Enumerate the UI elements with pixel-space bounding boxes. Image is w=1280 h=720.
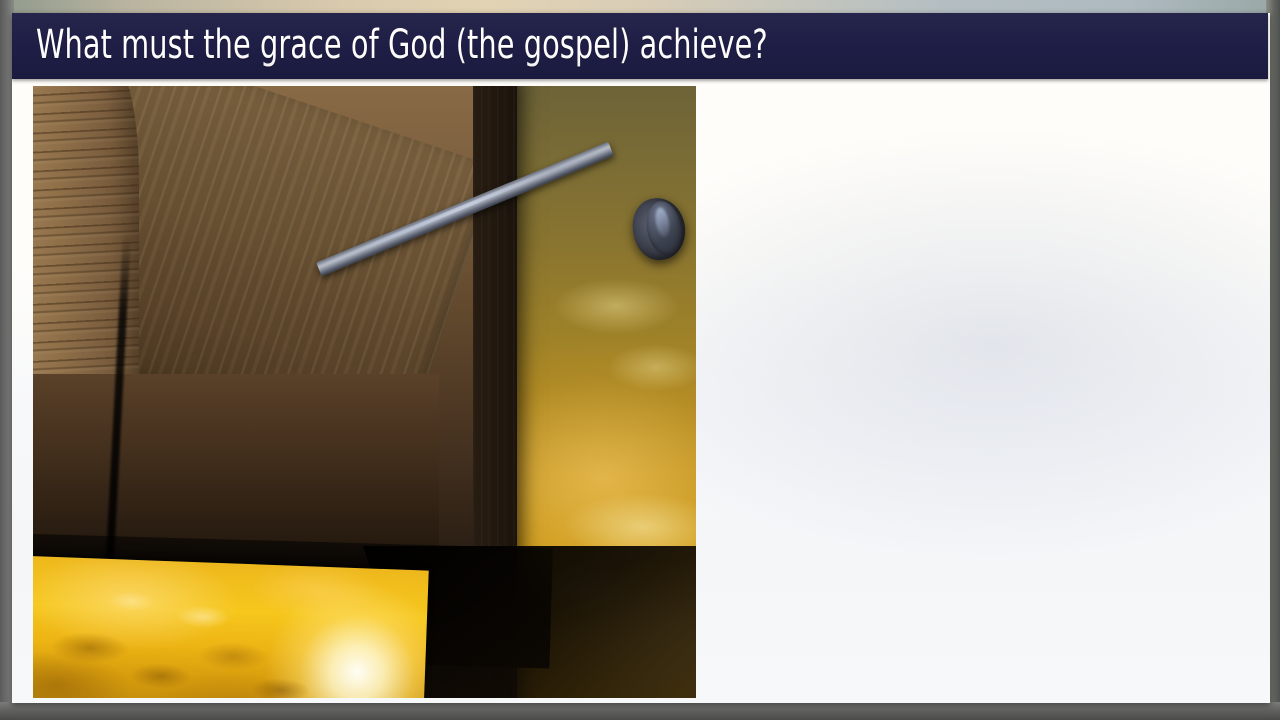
slide-title-bar: What must the grace of God (the gospel) … [12,13,1268,79]
slide-picture [33,86,696,698]
presentation-viewer: What must the grace of God (the gospel) … [0,0,1280,720]
golden-sky-inset-photo [33,556,429,698]
slide-canvas: What must the grace of God (the gospel) … [12,13,1270,703]
slide-title: What must the grace of God (the gospel) … [36,22,768,68]
viewer-backdrop-bottom [0,702,1280,720]
cross-horizontal-beam [33,86,473,574]
golden-sky-inset-clouds [33,556,429,698]
